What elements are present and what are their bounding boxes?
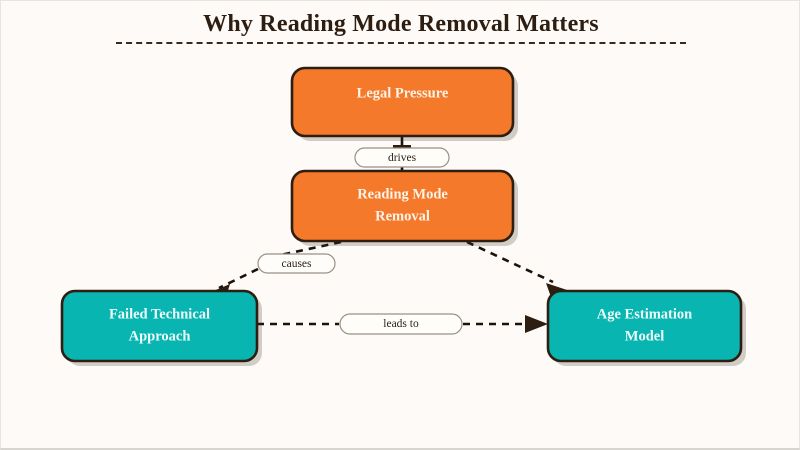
diagram-canvas: Why Reading Mode Removal Matters	[0, 0, 800, 450]
node-age-estimation-model[interactable]: Age Estimation Model	[548, 291, 746, 366]
node-age-estimation-model-label-line1: Age Estimation	[597, 306, 692, 322]
node-reading-mode-removal-label-line1: Reading Mode	[357, 186, 448, 202]
edge-label-drives-text: drives	[388, 152, 417, 164]
edge-label-leads-to-text: leads to	[383, 318, 419, 330]
node-reading-mode-removal[interactable]: Reading Mode Removal	[292, 171, 518, 246]
edge-label-causes: causes	[258, 254, 335, 273]
edge-label-causes-text: causes	[281, 258, 312, 270]
flowchart-diagram: Legal Pressure Reading Mode Removal Fail…	[1, 1, 800, 450]
edge-label-leads-to: leads to	[340, 314, 462, 334]
node-legal-pressure[interactable]: Legal Pressure	[292, 68, 518, 141]
node-legal-pressure-label: Legal Pressure	[357, 85, 449, 101]
node-age-estimation-model-label-line2: Model	[625, 328, 664, 344]
node-failed-technical-approach-label-line2: Approach	[129, 328, 191, 344]
node-failed-technical-approach-label-line1: Failed Technical	[109, 306, 210, 322]
node-failed-technical-approach[interactable]: Failed Technical Approach	[62, 291, 262, 366]
node-reading-mode-removal-label-line2: Removal	[375, 208, 430, 224]
edge-label-drives: drives	[355, 148, 449, 167]
